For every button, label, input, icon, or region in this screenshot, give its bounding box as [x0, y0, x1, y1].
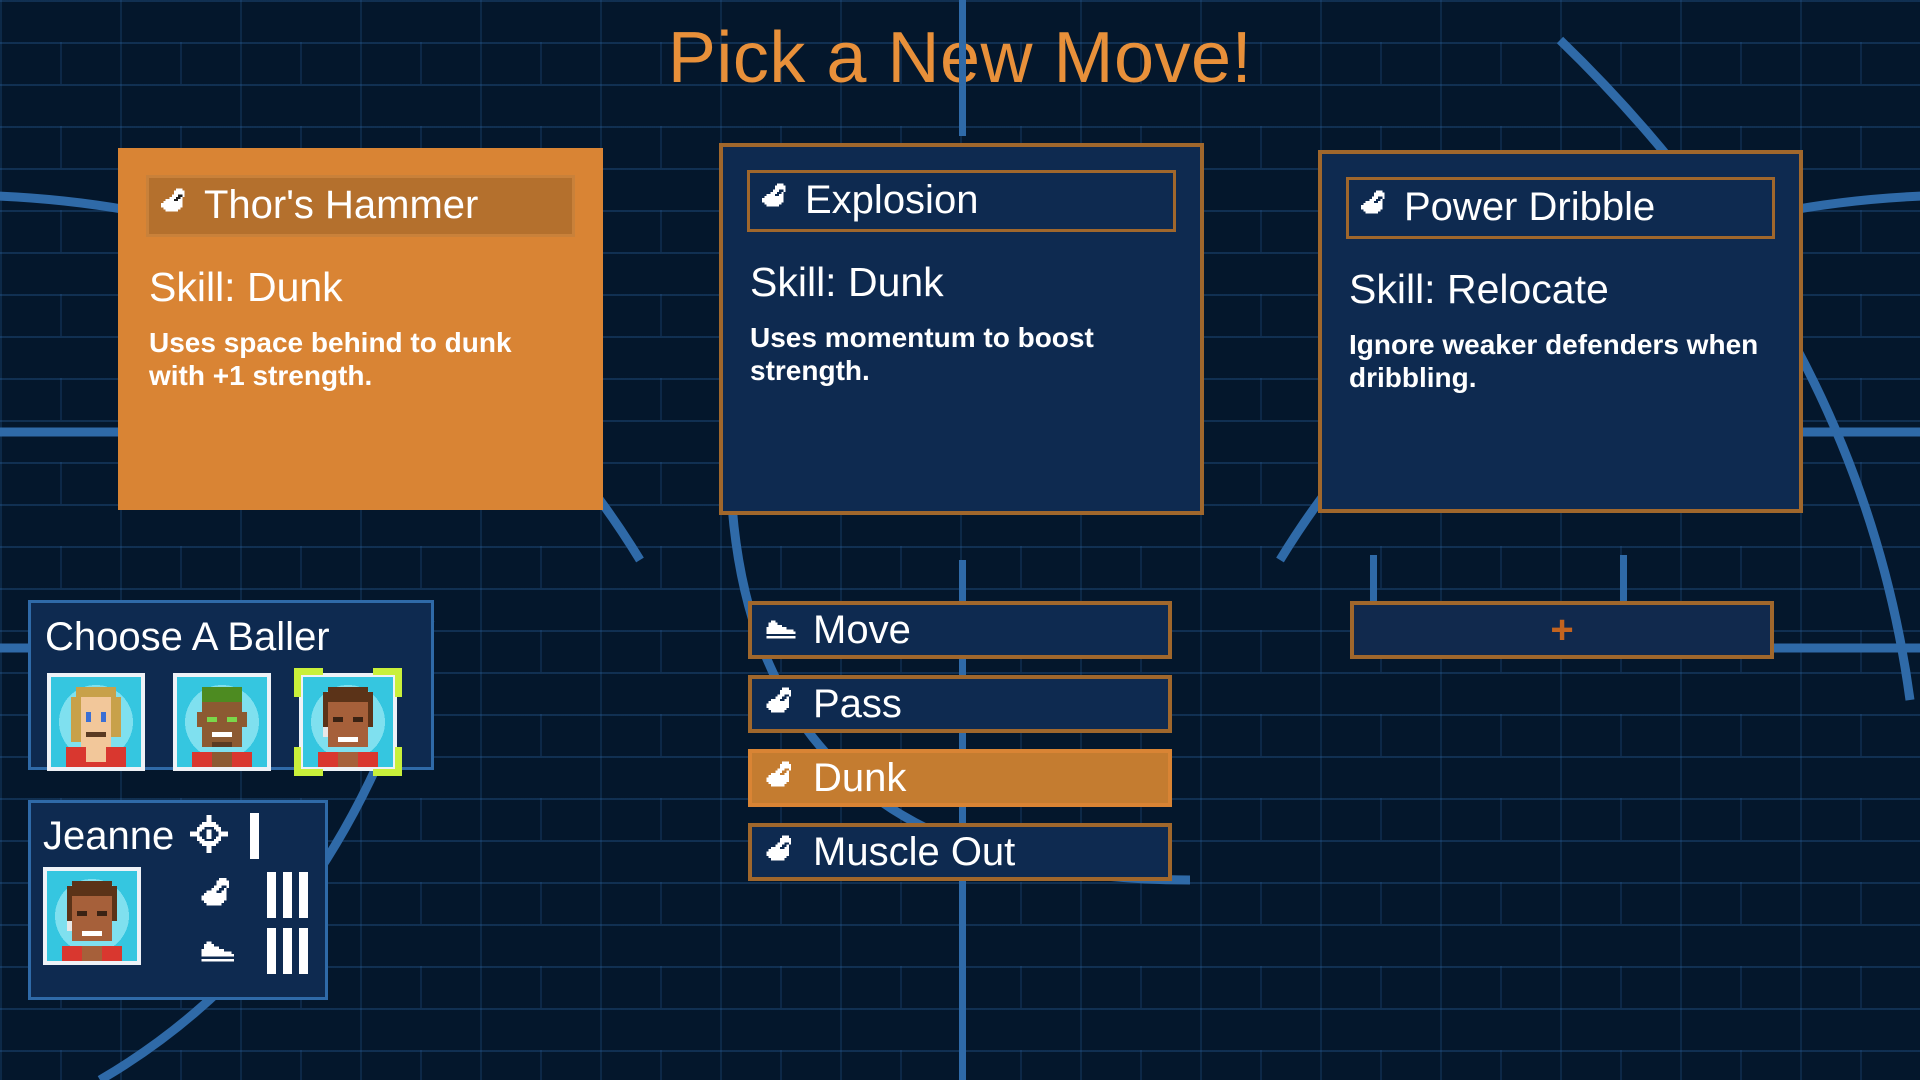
- muscle-icon: [1359, 186, 1393, 227]
- empty-move-slot[interactable]: +: [1350, 601, 1774, 659]
- move-card-title: Power Dribble: [1346, 177, 1775, 239]
- move-card-power-dribble[interactable]: Power Dribble Skill: Relocate Ignore wea…: [1318, 150, 1803, 513]
- stat-bars-target: [250, 813, 259, 859]
- shoe-icon: [199, 929, 239, 974]
- choose-baller-panel: Choose A Baller: [28, 600, 434, 770]
- baller-portrait-1[interactable]: [47, 673, 145, 771]
- shoe-icon: [764, 609, 800, 652]
- move-card-name: Explosion: [805, 180, 978, 220]
- baller-portrait-2[interactable]: [173, 673, 271, 771]
- move-card-title: Thor's Hammer: [146, 175, 575, 237]
- move-list-item-dunk[interactable]: Dunk: [748, 749, 1172, 807]
- move-list-label: Dunk: [813, 758, 906, 798]
- move-list-label: Muscle Out: [813, 832, 1015, 872]
- move-list-item-muscle-out[interactable]: Muscle Out: [748, 823, 1172, 881]
- move-card-desc: Uses space behind to dunk with +1 streng…: [149, 326, 559, 392]
- move-list-item-move[interactable]: Move: [748, 601, 1172, 659]
- baller-name: Jeanne: [43, 816, 174, 856]
- move-list-item-pass[interactable]: Pass: [748, 675, 1172, 733]
- move-card-thors-hammer[interactable]: Thor's Hammer Skill: Dunk Uses space beh…: [118, 148, 603, 510]
- move-card-desc: Ignore weaker defenders when dribbling.: [1349, 328, 1779, 394]
- move-list-label: Pass: [813, 684, 902, 724]
- move-card-name: Power Dribble: [1404, 187, 1655, 227]
- muscle-icon: [159, 184, 193, 225]
- choose-baller-heading: Choose A Baller: [45, 617, 431, 657]
- stat-row-strength: [199, 867, 308, 923]
- target-icon: [190, 815, 228, 858]
- court-center-line-top: [959, 0, 966, 136]
- stat-bars-strength: [267, 872, 308, 918]
- move-card-skill: Skill: Dunk: [149, 267, 599, 308]
- muscle-icon: [764, 683, 800, 726]
- move-card-title: Explosion: [747, 170, 1176, 232]
- baller-portrait-3[interactable]: [299, 673, 397, 771]
- move-card-skill: Skill: Dunk: [750, 262, 1200, 303]
- move-card-skill: Skill: Relocate: [1349, 269, 1799, 310]
- stat-row-speed: [199, 923, 308, 979]
- muscle-icon: [199, 873, 239, 918]
- baller-stats-panel: Jeanne: [28, 800, 328, 1000]
- baller-stats-portrait: [43, 867, 141, 965]
- stat-bars-speed: [267, 928, 308, 974]
- move-card-name: Thor's Hammer: [204, 185, 478, 225]
- muscle-icon: [764, 831, 800, 874]
- muscle-icon: [764, 757, 800, 800]
- plus-icon: +: [1550, 610, 1573, 650]
- move-card-explosion[interactable]: Explosion Skill: Dunk Uses momentum to b…: [719, 143, 1204, 515]
- muscle-icon: [760, 179, 794, 220]
- move-card-desc: Uses momentum to boost strength.: [750, 321, 1170, 387]
- move-list-label: Move: [813, 610, 911, 650]
